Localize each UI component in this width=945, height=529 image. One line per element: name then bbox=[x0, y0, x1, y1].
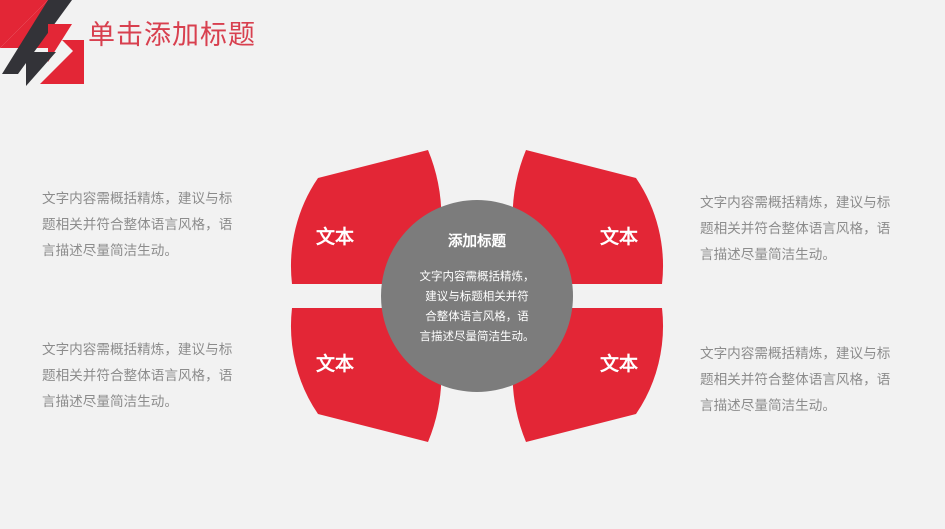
caption-bottom-left: 文字内容需概括精炼，建议与标题相关并符合整体语言风格，语言描述尽量简洁生动。 bbox=[42, 337, 238, 415]
page-title: 单击添加标题 bbox=[88, 18, 256, 52]
hub-body-line-2: 建议与标题相关并符 bbox=[425, 289, 529, 303]
petal-label-top-left: 文本 bbox=[316, 225, 354, 248]
hub-body-line-1: 文字内容需概括精炼， bbox=[420, 269, 535, 283]
hub-heading: 添加标题 bbox=[448, 232, 506, 250]
petal-label-bottom-right: 文本 bbox=[600, 352, 638, 375]
caption-top-right: 文字内容需概括精炼，建议与标题相关并符合整体语言风格，语言描述尽量简洁生动。 bbox=[700, 190, 896, 268]
petal-diagram: 文本 文本 文本 文本 添加标题 文字内容需概括精炼， 建议与标题相关并符 合整… bbox=[232, 122, 722, 470]
brand-logo-mark bbox=[0, 0, 86, 88]
petal-label-bottom-left: 文本 bbox=[316, 352, 354, 375]
slide-header: 单击添加标题 bbox=[0, 0, 945, 90]
caption-top-left: 文字内容需概括精炼，建议与标题相关并符合整体语言风格，语言描述尽量简洁生动。 bbox=[42, 186, 238, 264]
caption-bottom-right: 文字内容需概括精炼，建议与标题相关并符合整体语言风格，语言描述尽量简洁生动。 bbox=[700, 341, 896, 419]
hub-body-line-4: 言描述尽量简洁生动。 bbox=[420, 329, 535, 343]
hub-body-line-3: 合整体语言风格，语 bbox=[425, 309, 529, 323]
petal-label-top-right: 文本 bbox=[600, 225, 638, 248]
